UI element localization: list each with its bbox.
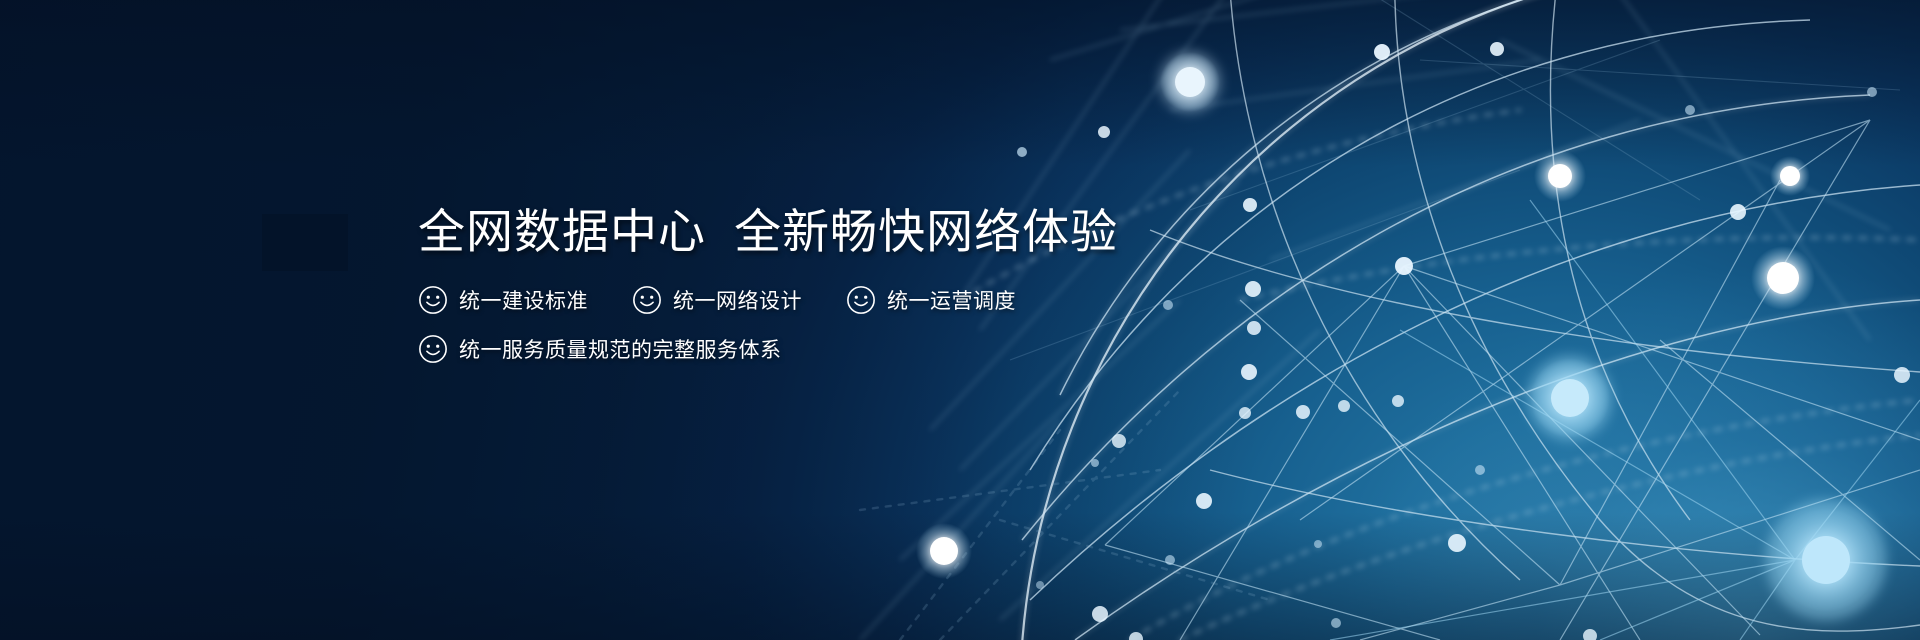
feature-item: 统一服务质量规范的完整服务体系 [418, 334, 782, 364]
feature-list: 统一建设标准 统一网络设计 [418, 285, 1398, 364]
banner-content: 全网数据中心 全新畅快网络体验 统一建设标准 [418, 206, 1398, 364]
smiley-face-icon [632, 285, 662, 315]
smiley-face-icon [418, 334, 448, 364]
feature-item: 统一建设标准 [418, 285, 588, 315]
feature-label: 统一运营调度 [887, 285, 1016, 315]
feature-item: 统一运营调度 [846, 285, 1016, 315]
feature-label: 统一网络设计 [673, 285, 802, 315]
smiley-face-icon [846, 285, 876, 315]
feature-row: 统一服务质量规范的完整服务体系 [418, 334, 1398, 364]
hero-banner: 全网数据中心 全新畅快网络体验 统一建设标准 [0, 0, 1920, 640]
feature-item: 统一网络设计 [632, 285, 802, 315]
feature-row: 统一建设标准 统一网络设计 [418, 285, 1398, 315]
page-title: 全网数据中心 全新畅快网络体验 [418, 206, 1398, 259]
smiley-face-icon [418, 285, 448, 315]
feature-label: 统一服务质量规范的完整服务体系 [459, 334, 782, 364]
feature-label: 统一建设标准 [459, 285, 588, 315]
